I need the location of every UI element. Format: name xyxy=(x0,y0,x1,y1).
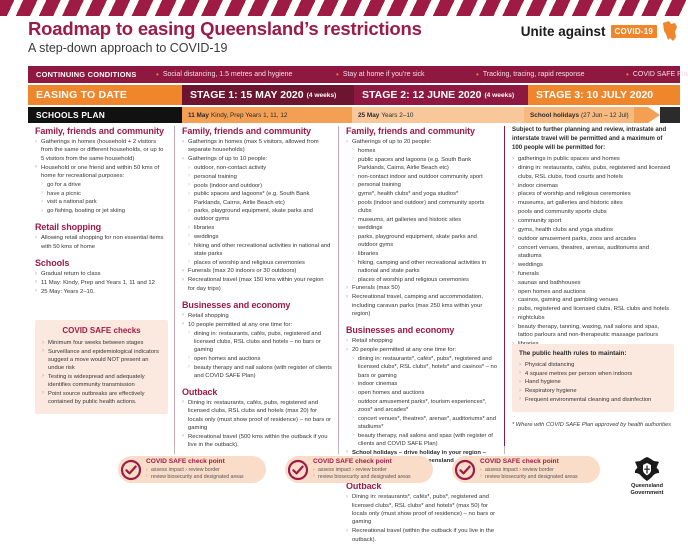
roadmap-infographic: Roadmap to easing Queensland’s restricti… xyxy=(0,0,688,498)
list-item: museums, art galleries and historic site… xyxy=(352,216,498,224)
list-item: Allowing retail shopping for non essenti… xyxy=(35,234,168,251)
stage-3-header: STAGE 3: 10 JULY 2020 xyxy=(528,85,680,105)
sub-list: dining in: restaurants*, cafés*, pubs*, … xyxy=(352,355,498,448)
list-item: open homes and auctions xyxy=(188,355,332,363)
list-item: parks, playground equipment, skate parks… xyxy=(352,233,498,249)
list-item: outdoor amusement parks*, tourism experi… xyxy=(352,398,498,414)
schools-segment-2-text: Years 2–10 xyxy=(381,112,413,119)
page-subtitle: A step-down approach to COVID-19 xyxy=(28,41,227,55)
list-item: Point source outbreaks are effectively c… xyxy=(42,390,161,406)
queensland-coat-of-arms-icon xyxy=(632,456,662,483)
checkpoint-item: review biosecurity and designated areas xyxy=(313,474,411,481)
list-item: weddings xyxy=(512,261,674,269)
column-easing-to-date: Family, friends and community Gatherings… xyxy=(28,126,174,448)
queensland-government-logo: Queensland Government xyxy=(618,456,676,497)
list-item: homes xyxy=(352,147,498,155)
schools-segment-1-date: 11 May xyxy=(188,112,209,119)
checkpoint-item: assess impact › review border xyxy=(480,467,578,474)
continuing-conditions-label: CONTINUING CONDITIONS xyxy=(28,70,156,79)
checkpoint-connector xyxy=(174,446,175,454)
list-item: community sport xyxy=(512,217,674,225)
sub-list: outdoor, non-contact activity personal t… xyxy=(188,164,332,267)
schools-segment-3-date: School holidays xyxy=(530,112,579,119)
list-item: Gatherings in homes (max 5 visitors, all… xyxy=(182,138,332,155)
decorative-stripe-band xyxy=(0,0,688,16)
schools-end-cap xyxy=(660,107,680,123)
list-item: Gatherings in homes (household + 2 visit… xyxy=(35,138,168,163)
covid-safe-checks-box: COVID SAFE checks Minimum four weeks bet… xyxy=(35,320,168,414)
list-item: go for a drive xyxy=(41,181,168,189)
list-item: libraries xyxy=(352,250,498,258)
schools-segment-1: 11 May Kindy, Prep Years 1, 11, 12 xyxy=(182,107,352,123)
list-item: nightclubs xyxy=(512,314,674,322)
stage-2-header: STAGE 2: 12 JUNE 2020 (4 weeks) xyxy=(354,85,528,105)
list-item: saunas and bathhouses xyxy=(512,279,674,287)
list-item: personal training xyxy=(352,181,498,189)
list-item: dining in: restaurants, cafés, pubs, reg… xyxy=(188,330,332,355)
list-item: personal training xyxy=(188,173,332,181)
section-list: Gatherings in homes (household + 2 visit… xyxy=(35,138,168,215)
list-item: dining in: restaurants*, cafés*, pubs*, … xyxy=(352,355,498,380)
list-item: outdoor, non-contact activity xyxy=(188,164,332,172)
public-health-rules-list: Physical distancing 4 square metres per … xyxy=(519,361,667,404)
list-item: Household or one friend and within 50 km… xyxy=(35,164,168,181)
list-item: 11 May: Kindy, Prep and Years 1, 11 and … xyxy=(35,279,168,287)
list-item: 4 square metres per person when indoors xyxy=(519,370,667,378)
list-item: weddings xyxy=(188,233,332,241)
list-item: open homes and auctions xyxy=(352,389,498,397)
list-item: pools (indoor and outdoor) and community… xyxy=(352,199,498,215)
sub-list: dining in: restaurants, cafés, pubs, reg… xyxy=(188,330,332,380)
logo-line-2: Government xyxy=(618,490,676,497)
list-item: outdoor amusement parks, zoos and arcade… xyxy=(512,235,674,243)
list-item: Funerals (max 50) xyxy=(346,284,498,292)
masthead: Roadmap to easing Queensland’s restricti… xyxy=(0,16,688,61)
section-heading: Businesses and economy xyxy=(182,300,332,310)
checkpoint-item: review biosecurity and designated areas xyxy=(146,474,244,481)
list-item: pubs, registered and licensed clubs, RSL… xyxy=(512,305,674,313)
easing-to-date-label: EASING TO DATE xyxy=(28,85,182,105)
section-list: Dining in: restaurants, cafés, pubs, reg… xyxy=(182,399,332,450)
list-item: go fishing, boating or jet skiing xyxy=(41,207,168,215)
condition-item: • Social distancing, 1.5 metres and hygi… xyxy=(156,71,336,79)
bullet-dot-icon: • xyxy=(626,71,629,79)
list-item: gyms, health clubs and yoga studios xyxy=(512,226,674,234)
section-list: Gatherings of up to 20 people: homes pub… xyxy=(346,138,498,318)
list-item: gyms*, health clubs* and yoga studios* xyxy=(352,190,498,198)
schools-segment-2: 25 May Years 2–10 xyxy=(352,107,524,123)
list-item: hiking and other recreational activities… xyxy=(188,242,332,258)
list-item: visit a national park xyxy=(41,198,168,206)
checkpoint-item: assess impact › review border xyxy=(146,467,244,474)
covid-safe-plan-footnote: * Where with COVID SAFE Plan approved by… xyxy=(512,422,674,430)
section-list: Gatherings in homes (max 5 visitors, all… xyxy=(182,138,332,293)
list-item: Gatherings of up to 10 people: xyxy=(182,155,332,163)
checkpoint-connector xyxy=(338,446,339,454)
schools-segment-3-text: (27 Jun – 12 Jul) xyxy=(581,112,629,119)
section-list: Allowing retail shopping for non essenti… xyxy=(35,234,168,251)
stage-header-band: EASING TO DATE STAGE 1: 15 MAY 2020 (4 w… xyxy=(28,85,680,105)
list-item: Hand hygiene xyxy=(519,378,667,386)
list-item: dining in: restaurants, cafés, pubs, reg… xyxy=(512,164,674,181)
list-item: weddings xyxy=(352,224,498,232)
checkpoint-title: COVID SAFE check point xyxy=(313,458,411,466)
list-item: Dining in: restaurants, cafés, pubs, reg… xyxy=(182,399,332,433)
list-item: Physical distancing xyxy=(519,361,667,369)
stage-2-title: STAGE 2: 12 JUNE 2020 xyxy=(362,89,481,101)
bullet-dot-icon: • xyxy=(476,71,479,79)
checkpoint-footer: COVID SAFE check point assess impact › r… xyxy=(0,450,688,498)
sub-list: homes public spaces and lagoons (e.g. So… xyxy=(352,147,498,284)
covid-safe-checks-title: COVID SAFE checks xyxy=(42,326,161,335)
unite-against-covid-lockup: Unite against COVID-19 xyxy=(521,20,678,42)
condition-label: Tracking, tracing, rapid response xyxy=(483,71,585,78)
section-heading: Outback xyxy=(182,387,332,397)
stage-3-intro: Subject to further planning and review, … xyxy=(512,126,674,152)
list-item: places of worship and religious ceremoni… xyxy=(512,190,674,198)
section-list: Retail shopping 10 people permitted at a… xyxy=(182,312,332,380)
list-item: gatherings in public spaces and homes xyxy=(512,155,674,163)
continuing-conditions-band: CONTINUING CONDITIONS • Social distancin… xyxy=(28,66,680,83)
list-item: beauty therapy, tanning, waxing, nail sa… xyxy=(512,323,674,340)
stage-3-list: gatherings in public spaces and homes di… xyxy=(512,155,674,366)
list-item: indoor cinemas xyxy=(512,182,674,190)
list-item: Funerals (max 20 indoors or 30 outdoors) xyxy=(182,267,332,275)
list-item: Recreational travel (within the outback … xyxy=(346,527,498,544)
list-item: Surveillance and epidemiological indicat… xyxy=(42,348,161,373)
list-item: concert venues*, theatres*, arenas*, aud… xyxy=(352,415,498,431)
section-list: Dining in: restaurants*, cafés*, pubs*, … xyxy=(346,493,498,544)
column-stage-2: Family, friends and community Gatherings… xyxy=(338,126,504,448)
checkpoint-title: COVID SAFE check point xyxy=(146,458,244,466)
list-item: public spaces and lagoons (e.g. South Ba… xyxy=(352,156,498,172)
stage-columns: Family, friends and community Gatherings… xyxy=(28,126,680,448)
schools-arrow-icon xyxy=(634,107,660,123)
condition-item: • COVID SAFE Plans xyxy=(626,71,688,79)
stage-1-header: STAGE 1: 15 MAY 2020 (4 weeks) xyxy=(182,85,354,105)
stage-1-title: STAGE 1: 15 MAY 2020 xyxy=(190,89,304,101)
condition-item: • Tracking, tracing, rapid response xyxy=(476,71,626,79)
list-item: Recreational travel (max 150 kms within … xyxy=(182,276,332,293)
list-item: funerals xyxy=(512,270,674,278)
list-item: indoor cinemas xyxy=(352,380,498,388)
list-item: pools (indoor and outdoor) xyxy=(188,182,332,190)
column-stage-1: Family, friends and community Gatherings… xyxy=(174,126,338,448)
condition-label: Stay at home if you’re sick xyxy=(343,71,425,78)
list-item: Recreational travel, camping and accommo… xyxy=(346,293,498,318)
logo-line-1: Queensland xyxy=(618,483,676,490)
list-item: Retail shopping xyxy=(346,337,498,345)
continuing-conditions-items: • Social distancing, 1.5 metres and hygi… xyxy=(156,71,688,79)
list-item: concert venues, theatres, arenas, audito… xyxy=(512,244,674,261)
checkpoint-body: COVID SAFE check point assess impact › r… xyxy=(146,458,250,481)
covid-safe-check-point-3: COVID SAFE check point assess impact › r… xyxy=(452,456,600,483)
list-item: beauty therapy, nail salons and spas (wi… xyxy=(352,432,498,448)
list-item: places of worship and religious ceremoni… xyxy=(352,276,498,284)
list-item: libraries xyxy=(188,224,332,232)
checkpoint-body: COVID SAFE check point assess impact › r… xyxy=(480,458,584,481)
public-health-rules-box: The public health rules to maintain: Phy… xyxy=(512,344,674,412)
column-stage-3: Subject to further planning and review, … xyxy=(504,126,680,448)
schools-segment-2-date: 25 May xyxy=(358,112,379,119)
list-item: Gatherings of up to 20 people: xyxy=(346,138,498,146)
bullet-dot-icon: • xyxy=(156,71,159,79)
schools-segment-3: School holidays (27 Jun – 12 Jul) xyxy=(524,107,634,123)
section-heading: Family, friends and community xyxy=(35,126,168,136)
section-heading: Retail shopping xyxy=(35,222,168,232)
list-item: beauty therapy and nail salons (with reg… xyxy=(188,364,332,380)
covid-safe-check-point-1: COVID SAFE check point assess impact › r… xyxy=(118,456,266,483)
section-list: Gradual return to class 11 May: Kindy, P… xyxy=(35,270,168,296)
list-item: non-contact indoor and outdoor community… xyxy=(352,173,498,181)
stage-2-note: (4 weeks) xyxy=(484,92,514,99)
list-item: Gradual return to class xyxy=(35,270,168,278)
page-title: Roadmap to easing Queensland’s restricti… xyxy=(28,18,422,40)
checkpoint-item: assess impact › review border xyxy=(313,467,411,474)
sub-list: go for a drive have a picnic visit a nat… xyxy=(41,181,168,215)
list-item: Minimum four weeks between stages xyxy=(42,339,161,347)
section-heading: Family, friends and community xyxy=(346,126,498,136)
list-item: public spaces and lagoons* (e.g. South B… xyxy=(188,190,332,206)
list-item: 20 people permitted at any one time for: xyxy=(346,346,498,354)
schools-plan-label: SCHOOLS PLAN xyxy=(28,107,182,123)
list-item: Dining in: restaurants*, cafés*, pubs*, … xyxy=(346,493,498,527)
condition-item: • Stay at home if you’re sick xyxy=(336,71,476,79)
list-item: Respiratory hygiene xyxy=(519,387,667,395)
checkpoint-title: COVID SAFE check point xyxy=(480,458,578,466)
list-item: Testing is widespread and adequately ide… xyxy=(42,373,161,389)
list-item: 25 May: Years 2–10. xyxy=(35,288,168,296)
condition-label: Social distancing, 1.5 metres and hygien… xyxy=(163,71,293,78)
list-item: casinos, gaming and gambling venues xyxy=(512,296,674,304)
stage-3-title: STAGE 3: 10 JULY 2020 xyxy=(536,89,653,101)
check-circle-icon xyxy=(120,459,142,481)
section-heading: Businesses and economy xyxy=(346,325,498,335)
checkpoint-item: review biosecurity and designated areas xyxy=(480,474,578,481)
check-circle-icon xyxy=(454,459,476,481)
condition-label: COVID SAFE Plans xyxy=(633,71,688,78)
list-item: pools and community sports clubs xyxy=(512,208,674,216)
checkpoint-connector xyxy=(504,446,505,454)
bullet-dot-icon: • xyxy=(336,71,339,79)
public-health-rules-title: The public health rules to maintain: xyxy=(519,350,667,357)
stage-1-note: (4 weeks) xyxy=(307,92,337,99)
list-item: Recreational travel (500 kms within the … xyxy=(182,433,332,450)
unite-label: Unite against xyxy=(521,24,606,39)
queensland-map-icon xyxy=(662,20,678,42)
covid-safe-check-point-2: COVID SAFE check point assess impact › r… xyxy=(285,456,433,483)
section-heading: Schools xyxy=(35,258,168,268)
list-item: 10 people permitted at any one time for: xyxy=(182,321,332,329)
list-item: Retail shopping xyxy=(182,312,332,320)
list-item: hiking, camping and other recreational a… xyxy=(352,259,498,275)
checkpoint-body: COVID SAFE check point assess impact › r… xyxy=(313,458,417,481)
section-heading: Family, friends and community xyxy=(182,126,332,136)
covid-safe-checks-list: Minimum four weeks between stages Survei… xyxy=(42,339,161,406)
check-circle-icon xyxy=(287,459,309,481)
covid19-badge: COVID-19 xyxy=(611,25,658,38)
list-item: museums, art galleries and historic site… xyxy=(512,199,674,207)
list-item: have a picnic xyxy=(41,190,168,198)
schools-plan-band: SCHOOLS PLAN 11 May Kindy, Prep Years 1,… xyxy=(28,107,680,123)
schools-segment-1-text: Kindy, Prep Years 1, 11, 12 xyxy=(211,112,288,119)
list-item: parks, playground equipment, skate parks… xyxy=(188,207,332,223)
list-item: Frequent environmental cleaning and disi… xyxy=(519,396,667,404)
list-item: open homes and auctions xyxy=(512,288,674,296)
list-item: places of worship and religious ceremoni… xyxy=(188,259,332,267)
